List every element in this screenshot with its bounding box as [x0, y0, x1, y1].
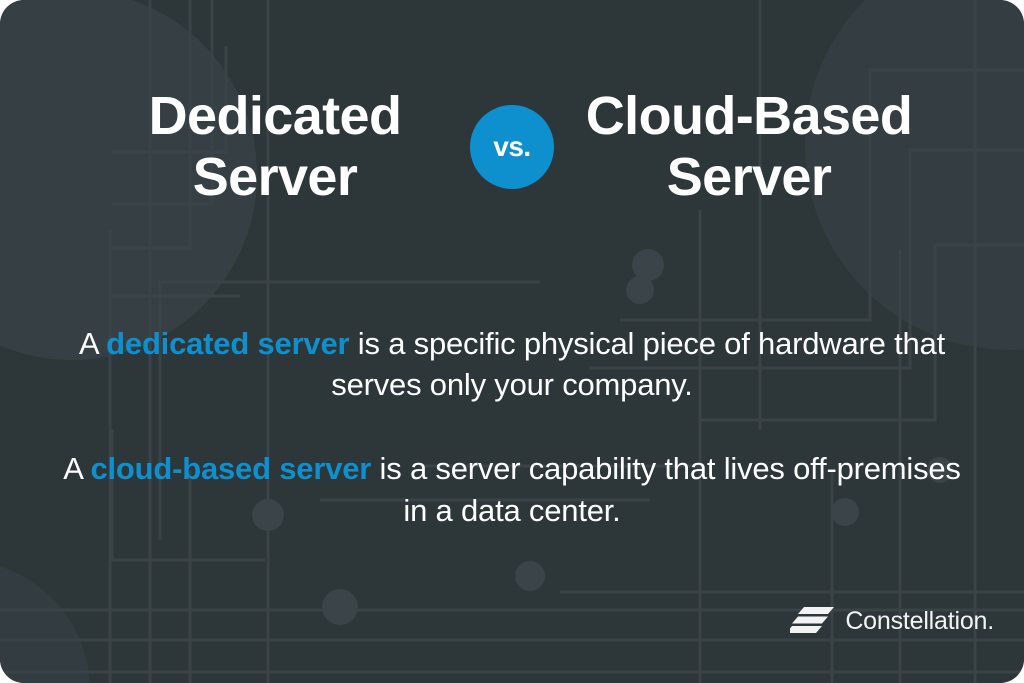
constellation-logo-text: Constellation.	[845, 609, 994, 634]
card-content: Dedicated Server vs. Cloud-Based Server …	[0, 0, 1024, 683]
heading-cloud-based-server: Cloud-Based Server	[566, 86, 932, 208]
paragraph-2-lead: A	[63, 451, 90, 486]
body-copy: A dedicated server is a specific physica…	[62, 292, 962, 562]
vs-badge: vs.	[470, 105, 554, 189]
paragraph-dedicated-server: A dedicated server is a specific physica…	[62, 323, 962, 405]
paragraph-1-rest: is a specific physical piece of hardware…	[331, 326, 945, 402]
constellation-logo: Constellation.	[790, 605, 994, 637]
paragraph-1-highlight: dedicated server	[106, 326, 349, 361]
vs-badge-label: vs.	[493, 133, 530, 161]
paragraph-2-rest: is a server capability that lives off-pr…	[371, 451, 961, 527]
paragraph-1-lead: A	[79, 326, 106, 361]
infographic-card: Dedicated Server vs. Cloud-Based Server …	[0, 0, 1024, 683]
paragraph-2-highlight: cloud-based server	[90, 451, 371, 486]
heading-dedicated-server: Dedicated Server	[92, 86, 458, 208]
paragraph-cloud-based-server: A cloud-based server is a server capabil…	[62, 448, 962, 530]
constellation-logo-mark-icon	[790, 605, 834, 637]
headline-row: Dedicated Server vs. Cloud-Based Server	[0, 86, 1024, 208]
